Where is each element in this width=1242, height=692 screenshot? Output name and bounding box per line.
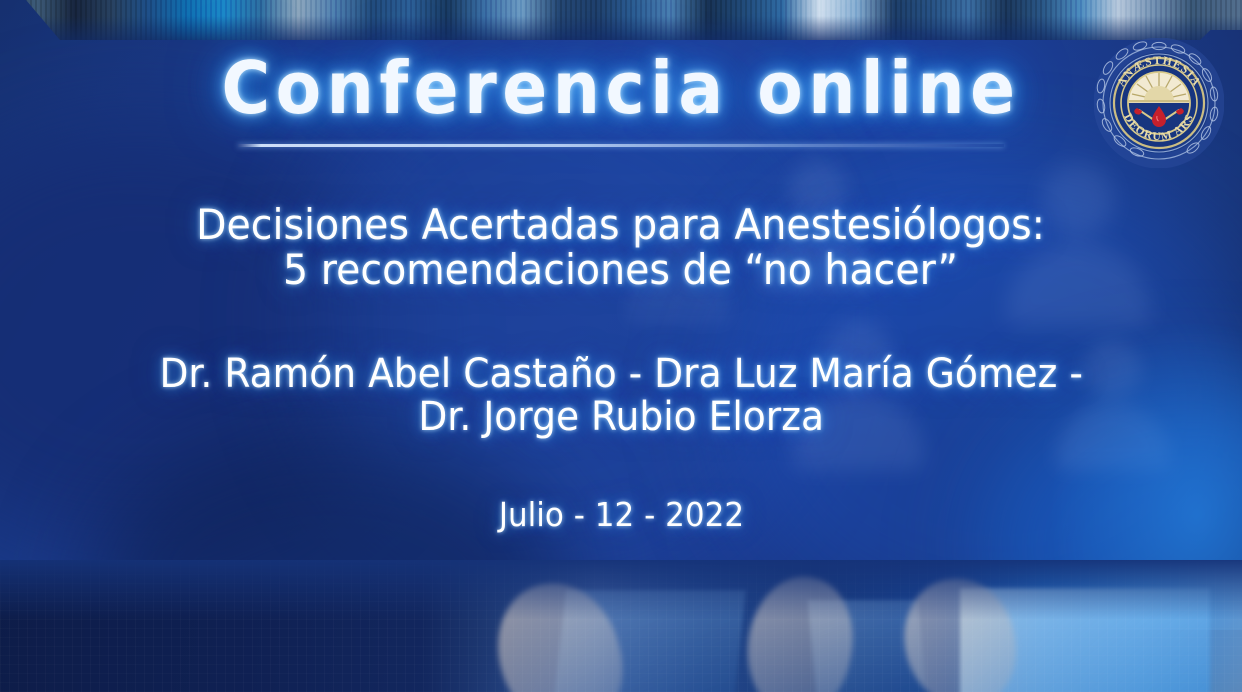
presenters-line-2: Dr. Jorge Rubio Elorza: [159, 396, 1082, 439]
subtitle: Decisiones Acertadas para Anestesiólogos…: [197, 203, 1046, 293]
slide-content: Conferencia online Decisiones Acertadas …: [0, 0, 1242, 692]
page-title: Conferencia online: [50, 52, 1193, 124]
presenters-line-1: Dr. Ramón Abel Castaño - Dra Luz María G…: [159, 351, 1082, 397]
event-date: Julio - 12 - 2022: [498, 495, 743, 534]
subtitle-line-2: 5 recomendaciones de “no hacer”: [197, 248, 1046, 293]
presentation-slide: ANÆSTHESIA DEORUM ARS Conferencia online…: [0, 0, 1242, 692]
subtitle-line-1: Decisiones Acertadas para Anestesiólogos…: [197, 200, 1046, 249]
title-block: Conferencia online: [0, 52, 1242, 147]
title-underline: [238, 144, 1004, 147]
presenters: Dr. Ramón Abel Castaño - Dra Luz María G…: [159, 353, 1082, 439]
